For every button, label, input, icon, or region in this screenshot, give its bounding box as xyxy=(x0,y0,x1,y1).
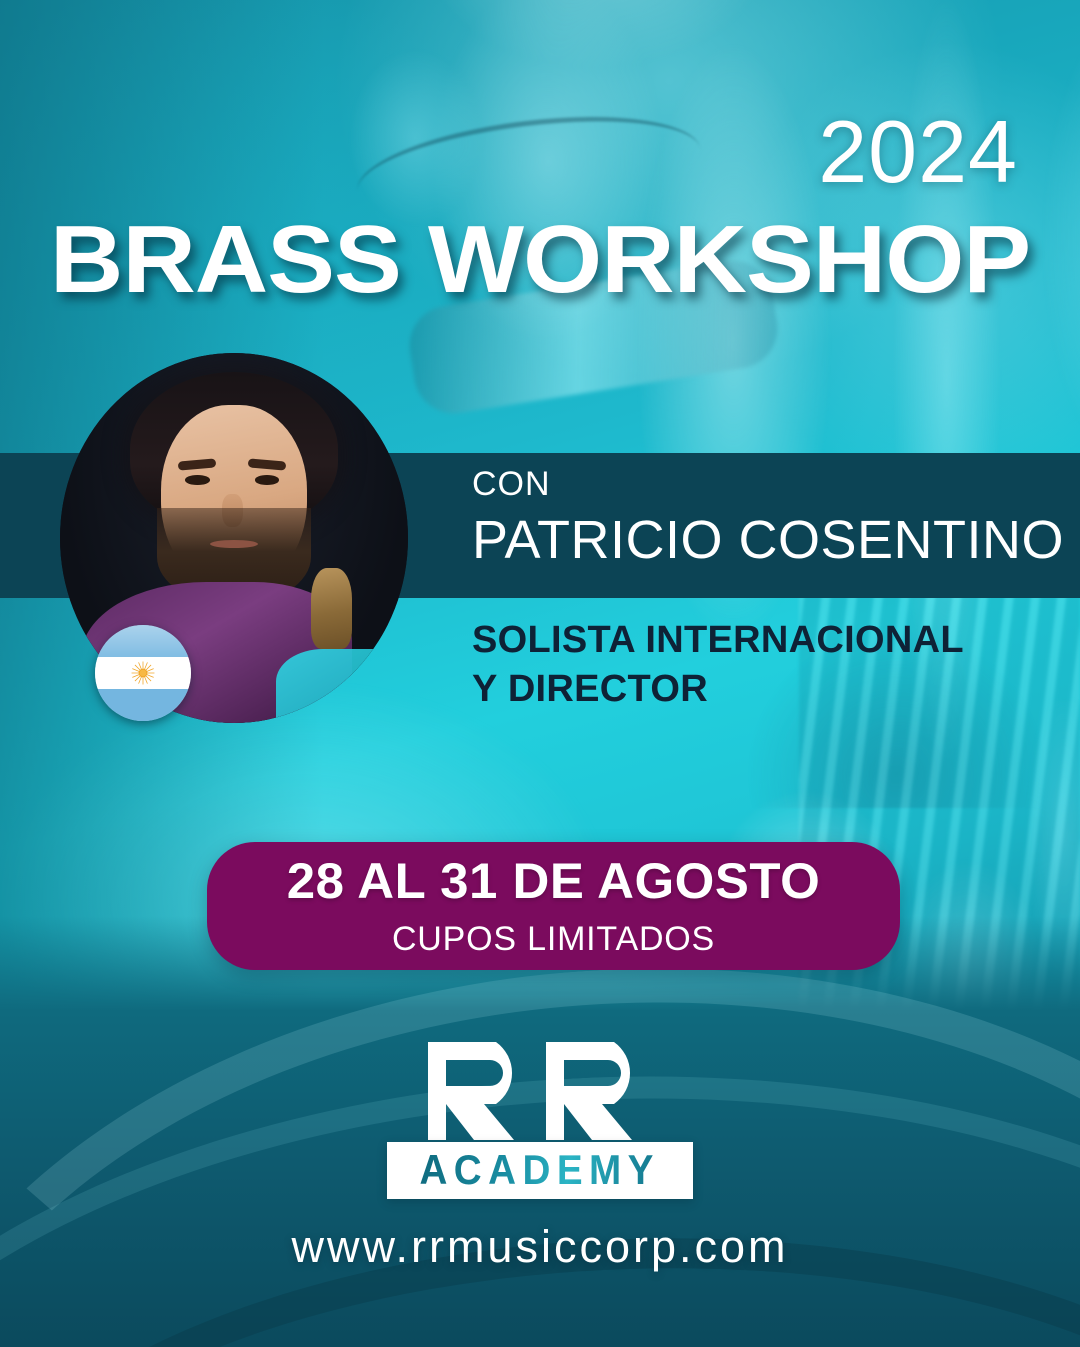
year-label: 2024 xyxy=(818,108,1018,196)
page-title: BRASS WORKSHOP xyxy=(0,212,1080,308)
academy-wordmark: ACADEMY xyxy=(420,1149,660,1191)
academy-wordmark-bar: ACADEMY xyxy=(387,1142,692,1199)
rr-monogram-icon xyxy=(424,1038,656,1144)
presenter-role: SOLISTA INTERNACIONAL Y DIRECTOR xyxy=(472,616,964,713)
presenter-role-line-1: SOLISTA INTERNACIONAL xyxy=(472,616,964,665)
portrait-mouthpiece xyxy=(311,568,353,649)
presenter-prefix: CON xyxy=(472,466,1064,503)
portrait-eye-left xyxy=(185,475,209,485)
argentina-flag-icon xyxy=(95,625,191,721)
presenter-name-block: CON PATRICIO COSENTINO xyxy=(472,466,1064,571)
presenter-role-line-2: Y DIRECTOR xyxy=(472,665,964,714)
portrait-mouth xyxy=(210,540,259,548)
portrait-eye-right xyxy=(255,475,279,485)
date-badge[interactable]: 28 AL 31 DE AGOSTO CUPOS LIMITADOS xyxy=(207,842,900,970)
flag-gloss-highlight xyxy=(95,625,191,667)
limited-seats-note: CUPOS LIMITADOS xyxy=(392,922,715,956)
date-range: 28 AL 31 DE AGOSTO xyxy=(287,856,821,906)
presenter-portrait-group xyxy=(60,353,408,723)
portrait-cyan-foreground xyxy=(276,649,394,723)
poster-canvas: 2024 BRASS WORKSHOP xyxy=(0,0,1080,1347)
website-url[interactable]: www.rrmusiccorp.com xyxy=(0,1224,1080,1269)
brand-logo: ACADEMY xyxy=(0,1038,1080,1199)
presenter-name: PATRICIO COSENTINO xyxy=(472,509,1064,571)
